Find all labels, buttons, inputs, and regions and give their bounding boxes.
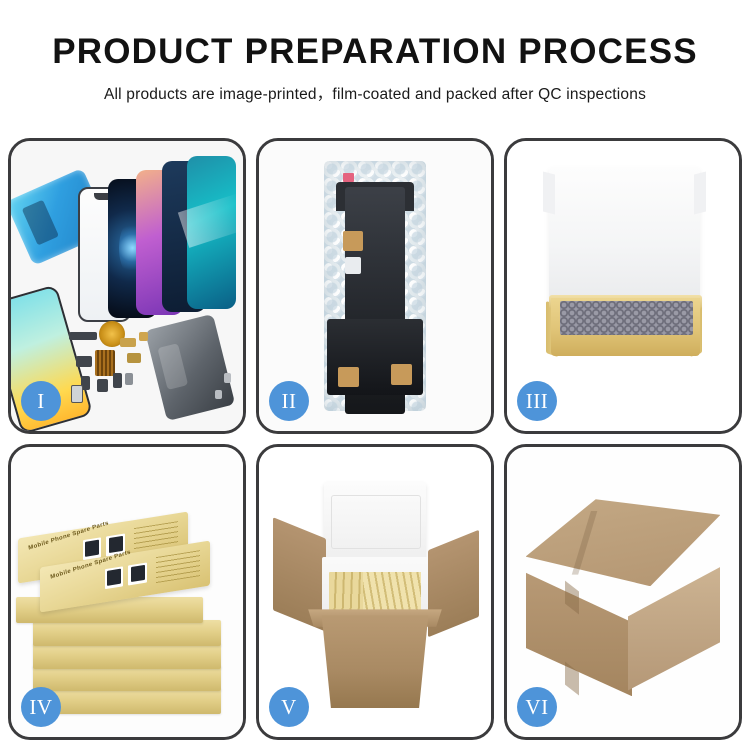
small-part-image: [76, 356, 92, 368]
step-numeral-6: VI: [525, 697, 548, 718]
carton-body-image: [317, 615, 433, 708]
retail-box-layer: [33, 620, 221, 646]
box-label-text: Mobile Phone Spare Parts: [50, 559, 103, 593]
step-badge-5: V: [269, 687, 309, 727]
teal-screen-phone-image: [187, 156, 236, 310]
process-step-1: I: [8, 138, 246, 434]
step-numeral-4: IV: [29, 697, 52, 718]
small-part-image: [224, 373, 231, 383]
pink-qc-tag-image: [343, 173, 355, 182]
step-numeral-1: I: [37, 391, 45, 412]
small-part-image: [125, 373, 133, 385]
flex-cable-tab-image: [338, 367, 359, 387]
small-part-image: [113, 373, 122, 388]
white-foam-lid-image: [549, 167, 700, 309]
retail-box-stack-image: Mobile Phone Spare Parts Mobile Phone Sp…: [16, 493, 234, 719]
small-part-image: [215, 390, 222, 399]
box-artwork-thumb: [128, 563, 147, 586]
page-title: PRODUCT PREPARATION PROCESS: [0, 34, 750, 69]
small-part-image: [127, 353, 141, 363]
process-step-5: V: [256, 444, 494, 740]
foam-box-lid-image: [324, 482, 426, 566]
step-numeral-3: III: [526, 391, 548, 412]
carton-top-face-image: [526, 499, 721, 586]
step-badge-3: III: [517, 381, 557, 421]
retail-box-layer: [33, 688, 221, 714]
carton-front-face-image: [526, 569, 633, 697]
small-part-image: [71, 385, 82, 403]
retail-box-layer: [33, 665, 221, 691]
step-badge-2: II: [269, 381, 309, 421]
step-badge-1: I: [21, 381, 61, 421]
grey-foam-insert-image: [560, 301, 692, 336]
phone-back-housing-image: [145, 314, 235, 421]
step-numeral-2: II: [282, 391, 297, 412]
process-step-3: III: [504, 138, 742, 434]
small-part-image: [95, 350, 116, 376]
process-step-6: VI: [504, 444, 742, 740]
box-artwork-thumb: [104, 566, 123, 589]
retail-box-layer: [33, 643, 221, 669]
process-step-4: Mobile Phone Spare Parts Mobile Phone Sp…: [8, 444, 246, 740]
box-artwork-thumb: [82, 537, 101, 560]
small-part-image: [120, 338, 136, 347]
process-step-2: II: [256, 138, 494, 434]
step-badge-4: IV: [21, 687, 61, 727]
box-spec-lines: [155, 551, 199, 584]
small-part-image: [139, 332, 148, 341]
product-preparation-page: PRODUCT PREPARATION PROCESS All products…: [0, 0, 750, 750]
step-badge-6: VI: [517, 687, 557, 727]
step-numeral-5: V: [281, 697, 297, 718]
flex-cable-tab-image: [391, 364, 412, 384]
box-label-text: Mobile Phone Spare Parts: [28, 530, 81, 564]
flex-cable-tab-image: [343, 231, 364, 251]
page-header: PRODUCT PREPARATION PROCESS All products…: [0, 0, 750, 104]
page-subtitle: All products are image-printed，film-coat…: [0, 82, 750, 104]
small-part-image: [69, 332, 97, 340]
connector-image: [345, 257, 361, 274]
small-part-image: [97, 379, 109, 392]
process-step-grid: I II: [8, 138, 742, 740]
